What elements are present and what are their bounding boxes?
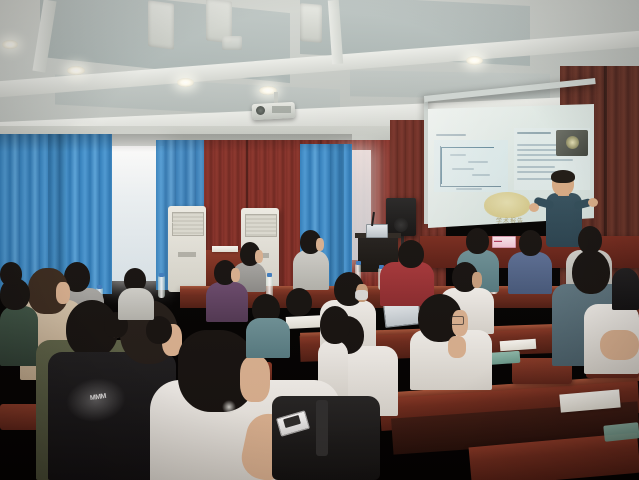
projector-lens-icon: [256, 106, 265, 115]
air-conditioner-far-right: [172, 222, 173, 223]
attendee-fg-right-arm: [600, 330, 639, 360]
attendee-left-4-torso: [0, 306, 38, 366]
ceiling-air-duct-1: [148, 0, 174, 50]
attendee-far-2-head: [146, 316, 172, 344]
presenter-hair: [551, 170, 575, 183]
attendee-fg-white-face: [240, 356, 270, 402]
lecture-hall-photo: 学术报告 ▬▬ ▬▬ ▬: [0, 0, 639, 480]
curtain-top-shadow: [0, 134, 352, 174]
attendee-far-6-torso: [118, 288, 154, 320]
cabinet-papers: [212, 246, 238, 252]
water-bottle-8-cap: [356, 261, 361, 265]
downlight-4: [466, 56, 483, 65]
ceiling-air-duct-3: [300, 3, 322, 43]
attendee-fg-hoodie-graphic-shape: [63, 374, 129, 426]
attendee-back-3-head: [466, 228, 489, 254]
podium-laptop: [366, 224, 388, 238]
water-bottle-1: [158, 276, 165, 298]
screen-frame: [424, 96, 428, 224]
backpack-strap: [316, 400, 328, 456]
attendee-left-1-torso: [206, 282, 248, 322]
attendee-back-4-torso: [508, 252, 552, 294]
attendee-right-edge-torso: [612, 268, 639, 310]
projector-vent: [272, 106, 291, 113]
attendee-mid-4-mask: [355, 290, 368, 300]
attendee-back-4-head: [519, 230, 542, 256]
attendee-left-3-face: [56, 282, 70, 304]
attendee-mid-3-head: [398, 240, 424, 268]
attendee-far-5-head: [0, 262, 22, 286]
attendee-fg-white-logo: [222, 400, 236, 414]
attendee-back-2-face: [316, 238, 324, 251]
attendee-mid-5-hand: [448, 336, 466, 358]
attendee-mid-1-face: [472, 272, 482, 288]
water-bottle-1-cap: [159, 273, 164, 277]
attendee-left-1-face: [231, 268, 240, 282]
speaker-cone-icon: [394, 218, 408, 232]
chair-back-4[interactable]: [0, 404, 40, 430]
air-conditioner-left-grill: [172, 212, 204, 236]
presenter-right-hand: [588, 198, 598, 207]
attendee-back-1-face: [255, 250, 263, 263]
presenter-left-hand: [529, 203, 539, 212]
attendee-back-2-torso: [293, 250, 329, 290]
water-bottle-9-cap: [97, 285, 102, 289]
ceiling-air-duct-4: [222, 36, 242, 50]
nameplate-left-text: ▬▬: [494, 238, 512, 243]
downlight-9: [2, 40, 18, 49]
water-bottle-2-cap: [267, 273, 272, 277]
attendee-far-4-head: [286, 288, 312, 316]
attendee-mid-5-glasses: [450, 316, 464, 325]
downlight-2: [177, 78, 194, 87]
attendee-mid-7-head: [320, 306, 350, 344]
air-conditioner-right-grill: [245, 214, 277, 237]
downlight-1: [67, 66, 85, 75]
attendee-mid-2-head: [572, 250, 610, 294]
attendee-far-3-torso: [246, 318, 290, 358]
air-conditioner-left-label: [178, 252, 196, 257]
